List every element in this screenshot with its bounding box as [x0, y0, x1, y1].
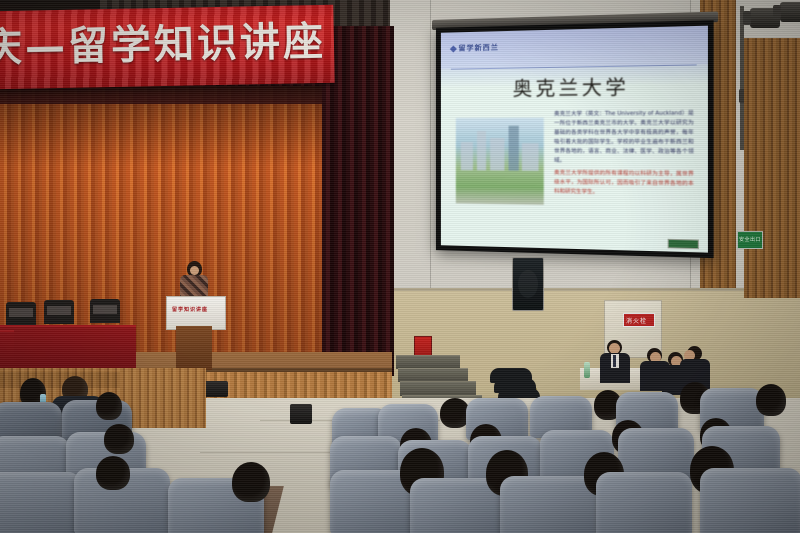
- screen-frame: 留学新西兰 奥克兰大学 奥克兰大学（英文：The University of A…: [436, 20, 714, 258]
- stage-chair: [6, 302, 36, 326]
- wall-chair-rail: [380, 288, 800, 291]
- banner-text: 庆—留学知识讲座: [0, 15, 335, 76]
- right-wood-panel: [744, 38, 800, 298]
- fire-hose-sign-label: 消火栓: [626, 316, 647, 325]
- slide-title: 奥克兰大学: [441, 71, 708, 102]
- exit-sign-label: 安全出口: [739, 236, 761, 243]
- stage-light-icon: [780, 2, 800, 22]
- auditorium-seat: [0, 472, 82, 533]
- attendee-head: [104, 424, 134, 454]
- presenter: [180, 261, 208, 301]
- exit-sign: 安全出口: [737, 231, 763, 249]
- podium-base: [176, 326, 212, 370]
- water-bottle: [584, 362, 590, 378]
- slide-body-highlight: 奥克兰大学所提供的所有课程均以科研为主导，属世界级水平，为国际所认可，因而吸引了…: [554, 169, 694, 199]
- attendee-head: [96, 456, 130, 490]
- auditorium-seat: [700, 468, 800, 533]
- presentation-slide: 留学新西兰 奥克兰大学 奥克兰大学（英文：The University of A…: [441, 26, 708, 253]
- stage-chair: [44, 300, 74, 324]
- auditorium-seat: [500, 476, 596, 533]
- podium: 留学知识讲座: [166, 296, 226, 330]
- slide-body-text: 奥克兰大学（英文：The University of Auckland）是一所位…: [554, 110, 694, 200]
- screen-brand-badge: [668, 239, 699, 249]
- wall-seam: [430, 0, 431, 300]
- attendee-head: [756, 384, 786, 416]
- slide-photo: [456, 117, 544, 204]
- auditorium-seat: [596, 472, 692, 533]
- auditorium-photo: 庆—留学知识讲座 留学知识讲座 留学新西兰 奥克兰大学: [0, 0, 800, 533]
- podium-label: 留学知识讲座: [172, 306, 220, 313]
- projection-screen: 留学新西兰 奥克兰大学 奥克兰大学（英文：The University of A…: [432, 11, 718, 262]
- attendee-head: [96, 392, 122, 420]
- slide-kicker: 留学新西兰: [458, 42, 498, 53]
- curtain-valance: [0, 86, 340, 104]
- event-banner: 庆—留学知识讲座: [0, 5, 335, 90]
- attendee-head: [232, 462, 270, 502]
- wall-loudspeaker: [512, 257, 544, 311]
- presenter-face: [190, 266, 199, 275]
- stage-chair: [90, 299, 120, 323]
- slide-body-main: 奥克兰大学（英文：The University of Auckland）是一所位…: [554, 111, 694, 165]
- fire-hose-sign: 消火栓: [623, 313, 655, 327]
- left-wall-wainscot: [0, 372, 120, 388]
- floor-monitor-box: [290, 404, 312, 424]
